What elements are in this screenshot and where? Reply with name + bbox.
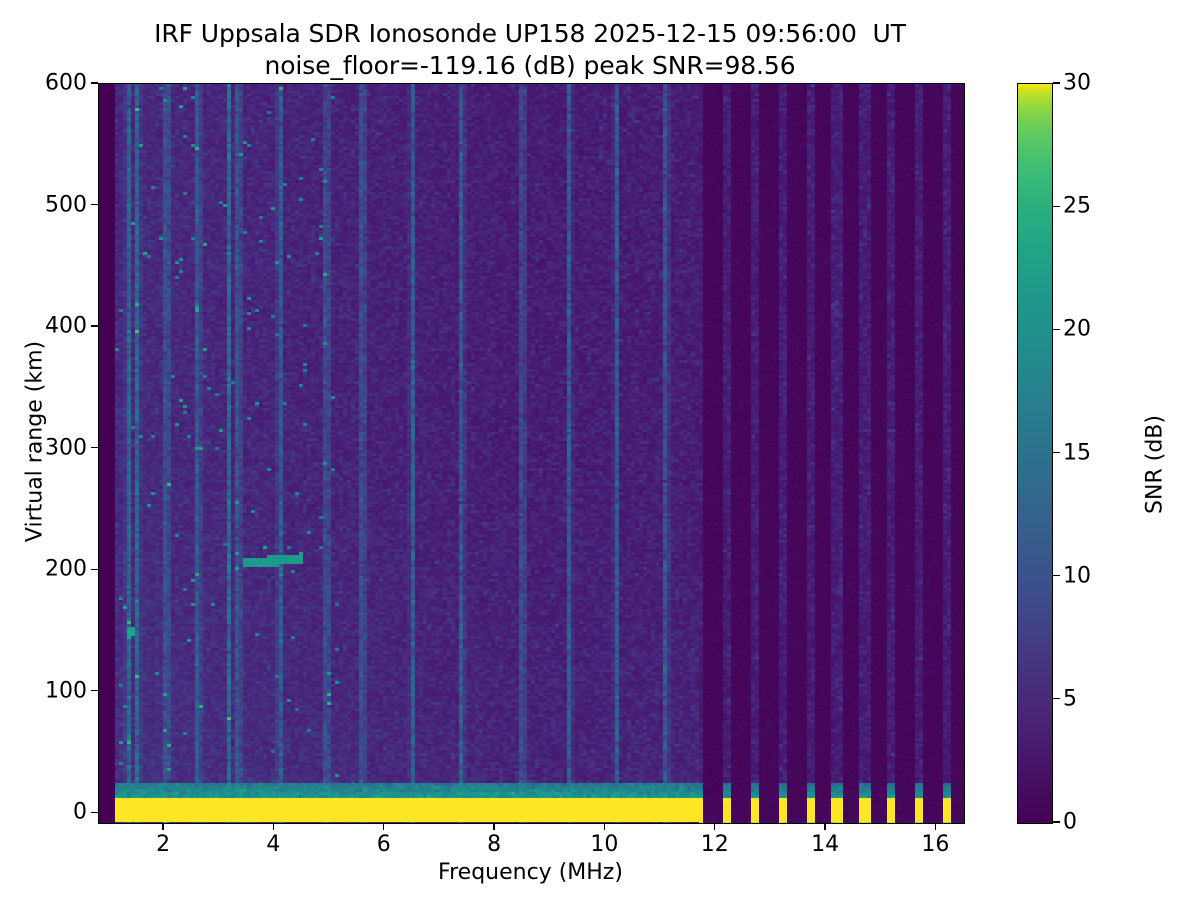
y-tick-mark [91, 325, 98, 326]
y-tick-label: 600 [45, 71, 87, 96]
x-tick-mark [714, 823, 715, 830]
y-tick-label: 0 [73, 800, 87, 825]
x-tick-label: 4 [266, 832, 280, 857]
colorbar-tick-mark [1053, 698, 1060, 699]
ionogram-heatmap [99, 84, 964, 823]
colorbar [1017, 83, 1053, 824]
y-tick-label: 100 [45, 678, 87, 703]
colorbar-tick-label: 15 [1063, 440, 1091, 465]
colorbar-tick-mark [1053, 821, 1060, 822]
x-tick-label: 10 [590, 832, 618, 857]
x-tick-label: 12 [701, 832, 729, 857]
colorbar-tick-label: 10 [1063, 563, 1091, 588]
y-tick-mark [91, 447, 98, 448]
ionogram-plot-area [98, 83, 965, 824]
y-tick-label: 400 [45, 314, 87, 339]
y-tick-mark [91, 82, 98, 83]
colorbar-tick-mark [1053, 82, 1060, 83]
x-tick-label: 6 [377, 832, 391, 857]
x-tick-mark [824, 823, 825, 830]
y-tick-label: 200 [45, 557, 87, 582]
x-tick-label: 8 [487, 832, 501, 857]
y-tick-mark [91, 812, 98, 813]
y-axis-label: Virtual range (km) [23, 62, 48, 822]
x-tick-mark [383, 823, 384, 830]
colorbar-tick-mark [1053, 206, 1060, 207]
x-tick-mark [604, 823, 605, 830]
colorbar-tick-mark [1053, 575, 1060, 576]
colorbar-tick-mark [1053, 329, 1060, 330]
x-tick-mark [273, 823, 274, 830]
colorbar-label: SNR (dB) [1143, 165, 1168, 765]
y-tick-mark [91, 569, 98, 570]
title-line-2: noise_floor=-119.16 (dB) peak SNR=98.56 [0, 50, 1060, 82]
colorbar-tick-label: 5 [1063, 686, 1077, 711]
colorbar-tick-label: 30 [1063, 71, 1091, 96]
ionogram-figure: IRF Uppsala SDR Ionosonde UP158 2025-12-… [0, 0, 1200, 900]
y-tick-mark [91, 690, 98, 691]
colorbar-tick-mark [1053, 452, 1060, 453]
y-tick-mark [91, 204, 98, 205]
y-tick-label: 500 [45, 192, 87, 217]
figure-title: IRF Uppsala SDR Ionosonde UP158 2025-12-… [0, 18, 1060, 82]
colorbar-tick-label: 25 [1063, 194, 1091, 219]
colorbar-tick-label: 0 [1063, 810, 1077, 835]
x-tick-mark [935, 823, 936, 830]
x-tick-label: 14 [811, 832, 839, 857]
x-axis-label: Frequency (MHz) [98, 860, 963, 885]
x-tick-mark [493, 823, 494, 830]
x-tick-label: 2 [156, 832, 170, 857]
colorbar-tick-label: 20 [1063, 317, 1091, 342]
colorbar-gradient [1018, 84, 1052, 823]
title-line-1: IRF Uppsala SDR Ionosonde UP158 2025-12-… [0, 18, 1060, 50]
x-tick-mark [162, 823, 163, 830]
x-tick-label: 16 [921, 832, 949, 857]
y-tick-label: 300 [45, 435, 87, 460]
